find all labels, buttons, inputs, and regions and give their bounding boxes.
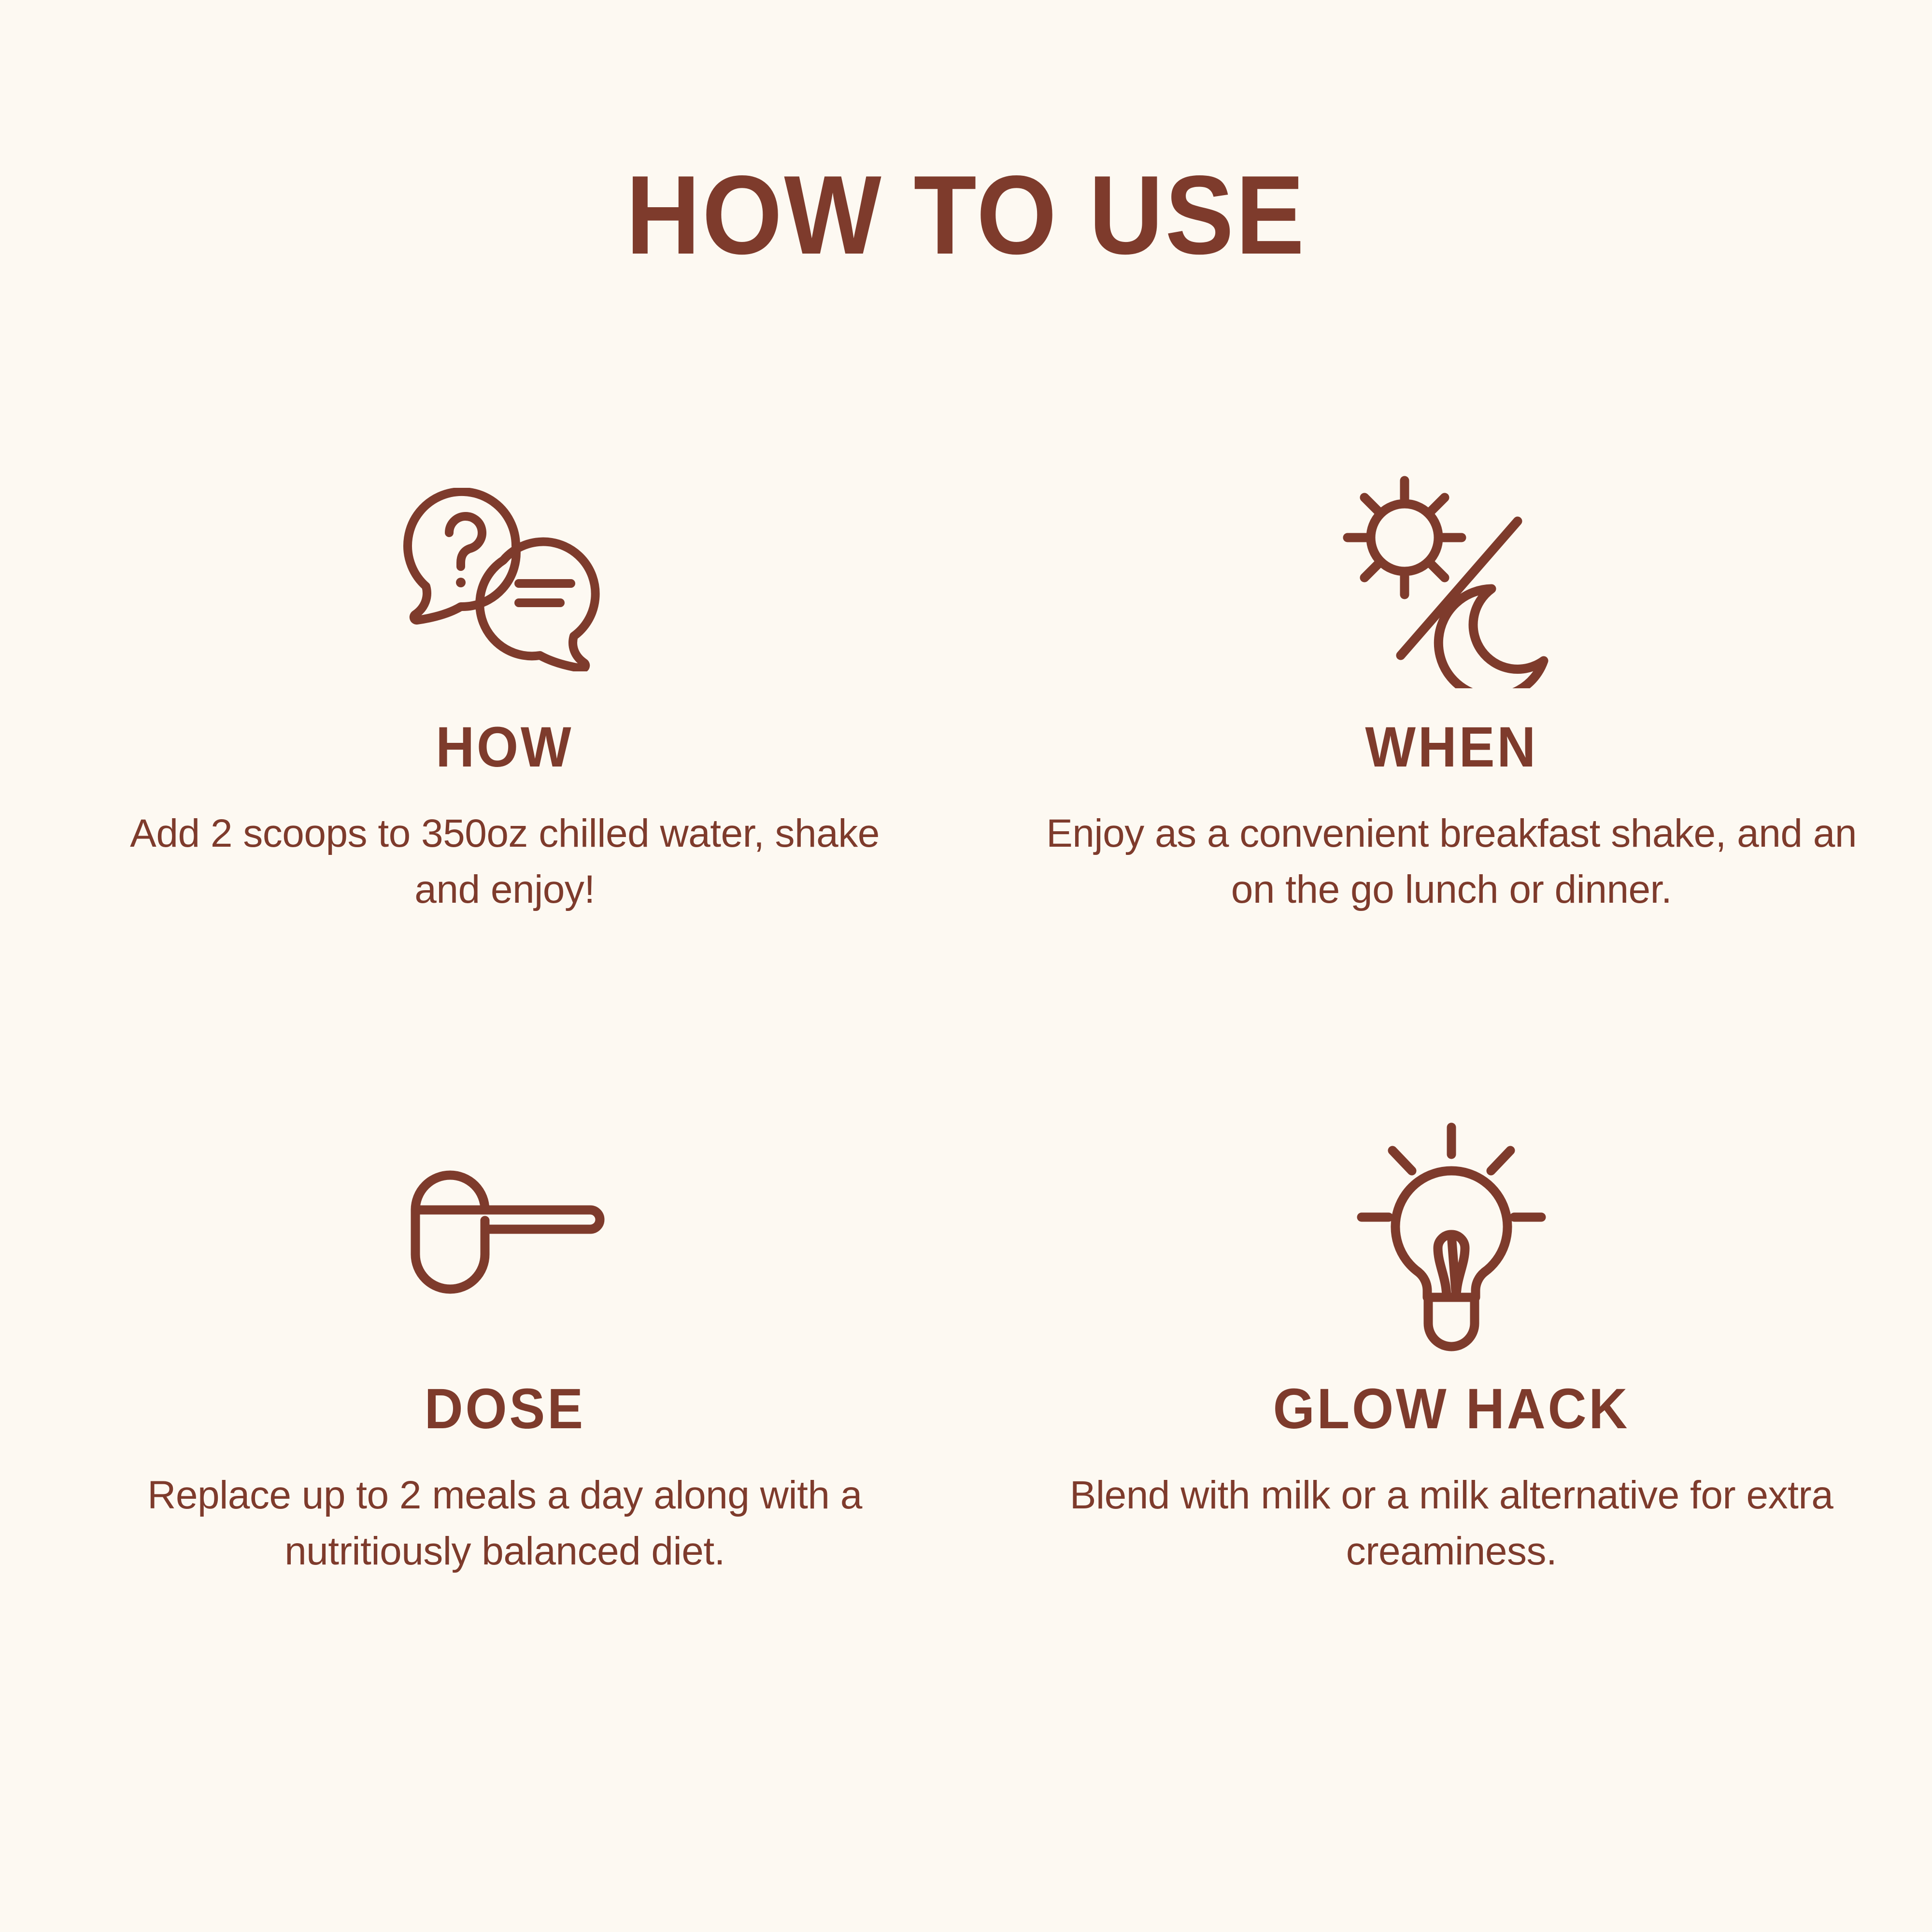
measuring-scoop-icon [401,1106,609,1367]
section-how: HOW Add 2 scoops to 350oz chilled water,… [0,454,966,1106]
speech-bubbles-question-icon [401,454,609,705]
sun-moon-day-night-icon [1338,454,1565,705]
section-dose-title: DOSE [424,1380,585,1437]
section-how-title: HOW [436,719,573,776]
section-dose: DOSE Replace up to 2 meals a day along w… [0,1106,966,1758]
section-when: WHEN Enjoy as a convenient breakfast sha… [966,454,1932,1106]
section-glow-hack-body: Blend with milk or a milk alternative fo… [1022,1467,1881,1580]
how-to-use-infographic: HOW TO USE HOW Add 2 scoops to 350oz chi… [0,0,1932,1932]
section-when-body: Enjoy as a convenient breakfast shake, a… [1022,806,1881,918]
page-title: HOW TO USE [77,159,1855,271]
section-dose-body: Replace up to 2 meals a day along with a… [94,1467,915,1580]
section-how-body: Add 2 scoops to 350oz chilled water, sha… [94,806,915,918]
section-glow-hack-title: GLOW HACK [1273,1380,1630,1437]
sections-grid: HOW Add 2 scoops to 350oz chilled water,… [0,454,1932,1758]
section-glow-hack: GLOW HACK Blend with milk or a milk alte… [966,1106,1932,1758]
lightbulb-icon [1355,1106,1548,1367]
section-when-title: WHEN [1365,719,1538,776]
